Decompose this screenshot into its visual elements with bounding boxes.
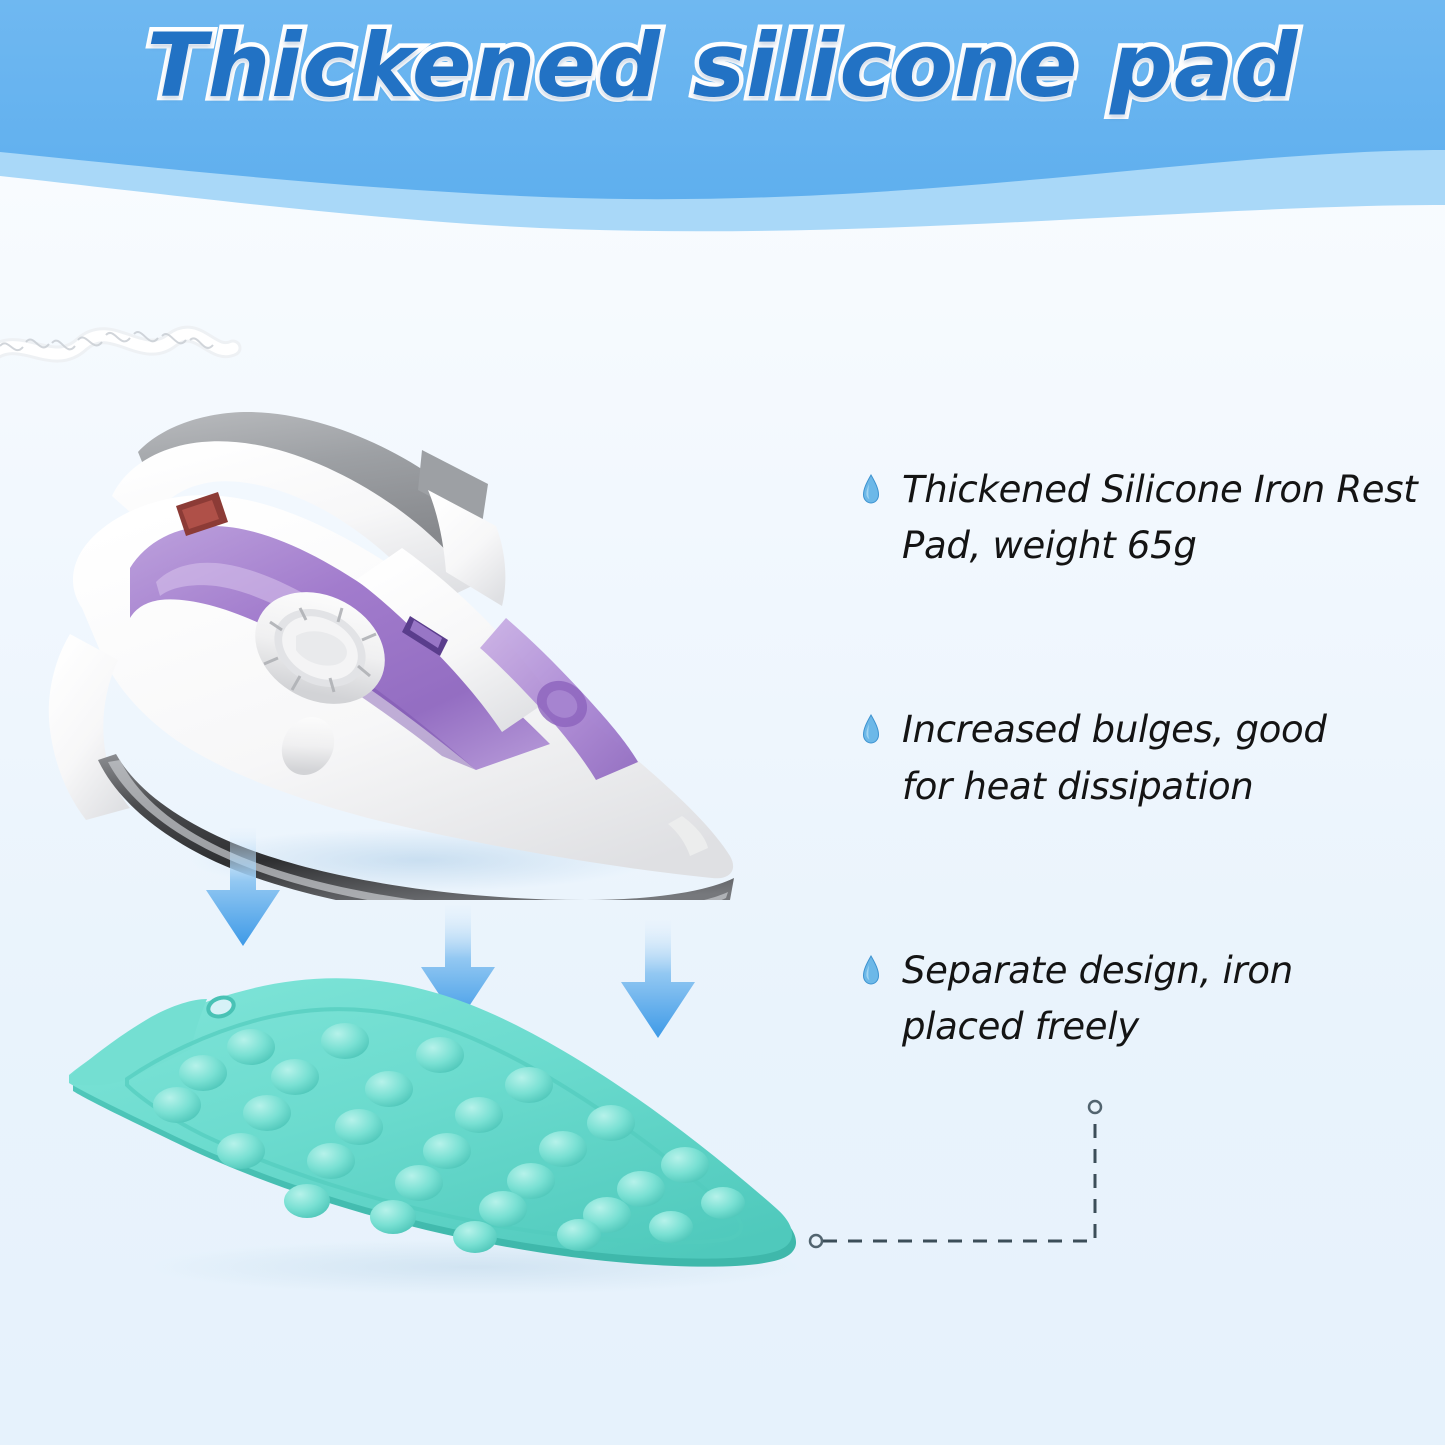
water-drop-icon [862, 714, 880, 744]
water-drop-icon [862, 955, 880, 985]
callout-endpoint-top [1089, 1101, 1101, 1113]
feature-text: Separate design, iron placed freely [902, 943, 1312, 1055]
feature-text: Thickened Silicone Iron Rest Pad, weight… [902, 462, 1422, 574]
steam-iron-image [0, 300, 780, 900]
water-drop-icon [862, 474, 880, 504]
feature-item: Separate design, iron placed freely [862, 943, 1432, 1055]
feature-text: Increased bulges, good for heat dissipat… [902, 702, 1372, 814]
callout-dimension-line [790, 1085, 1150, 1285]
header-banner: Thickened silicone pad [0, 0, 1445, 250]
silicone-pad-image [55, 955, 865, 1300]
feature-list: Thickened Silicone Iron Rest Pad, weight… [862, 462, 1432, 1055]
down-arrow-icon [200, 828, 286, 948]
feature-item: Thickened Silicone Iron Rest Pad, weight… [862, 462, 1432, 574]
callout-path [823, 1113, 1095, 1241]
product-infographic: Thickened silicone pad [0, 0, 1445, 1445]
feature-item: Increased bulges, good for heat dissipat… [862, 702, 1432, 814]
callout-endpoint-left [810, 1235, 822, 1247]
